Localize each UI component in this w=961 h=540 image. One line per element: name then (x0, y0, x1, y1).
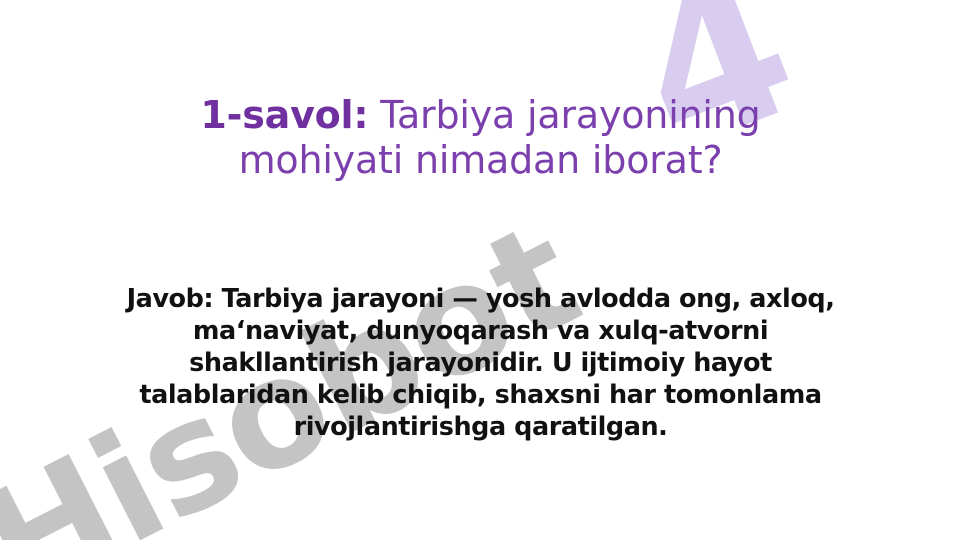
presentation-slide: 4 Hisobot 1-savol: Tarbiya jarayonining … (0, 0, 961, 540)
slide-title-lead: 1-savol: (200, 93, 368, 137)
slide-content: 1-savol: Tarbiya jarayonining mohiyati n… (0, 0, 961, 540)
slide-title: 1-savol: Tarbiya jarayonining mohiyati n… (120, 93, 841, 183)
slide-body-text: Javob: Tarbiya jarayoni — yosh avlodda o… (108, 283, 853, 443)
